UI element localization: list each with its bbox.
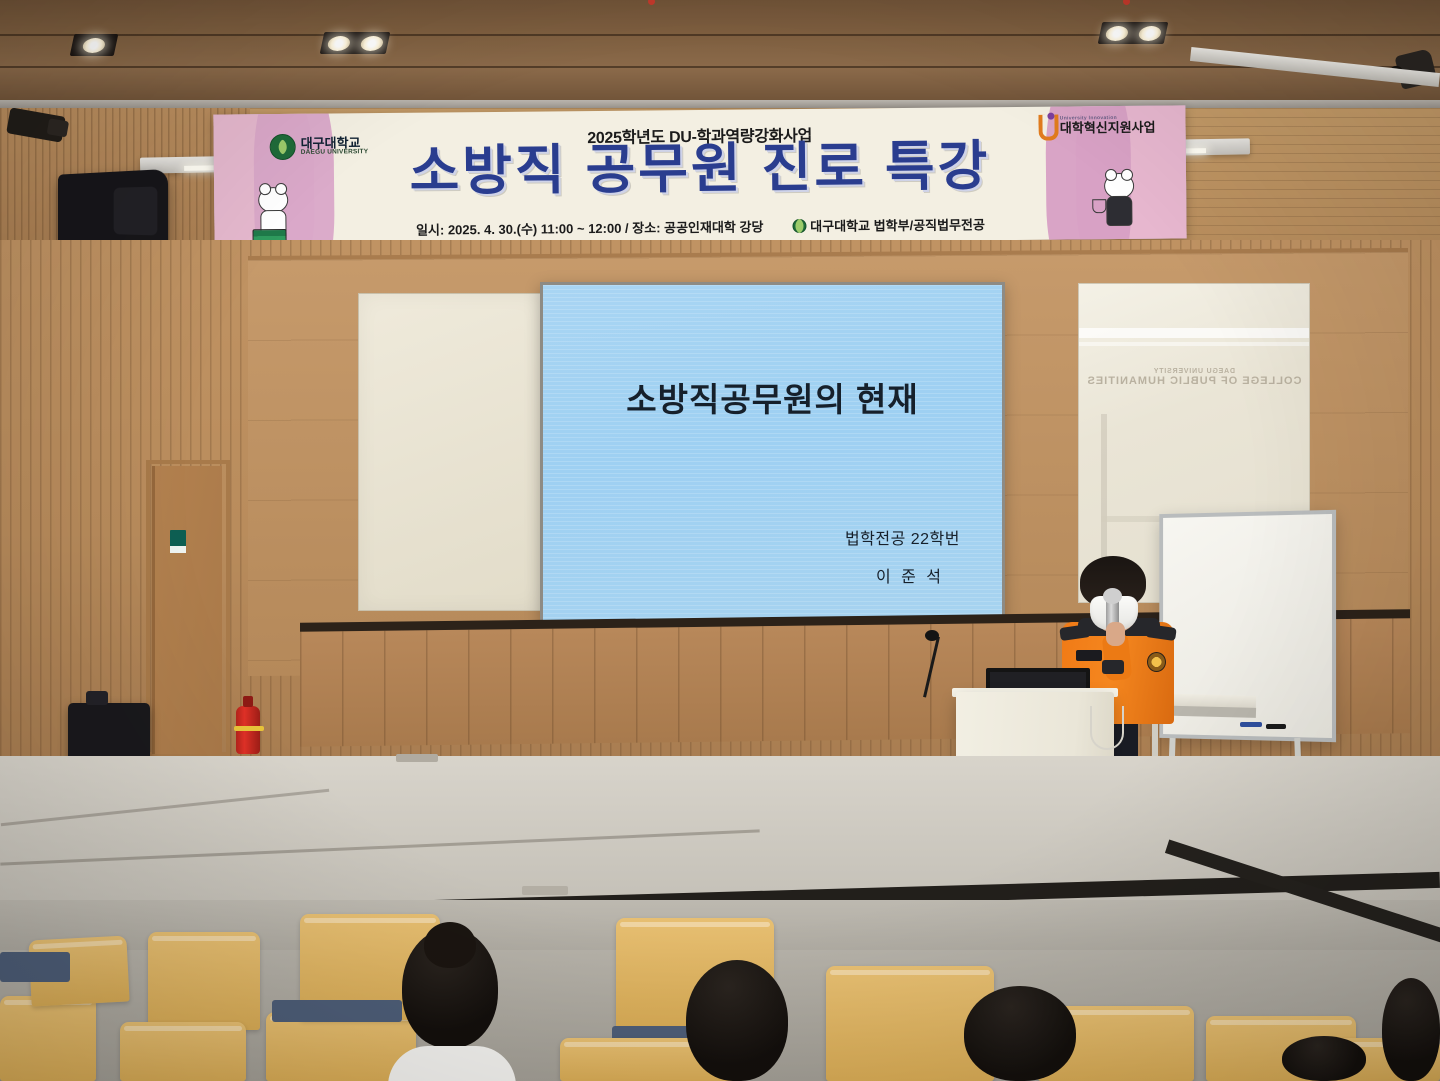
audience-person-head: [1282, 1036, 1366, 1081]
banner-footer: 일시: 2025. 4. 30.(수) 11:00 ~ 12:00 / 장소: …: [214, 212, 1186, 240]
slide-presenter-name: 이 준 석: [876, 563, 944, 587]
auditorium-seat[interactable]: [148, 932, 260, 1030]
presenter-cuff: [1102, 660, 1124, 674]
lecture-hall-photo: COLLEGE OF PUBLIC HUMANITIES 대구대학교 DAEGU…: [0, 0, 1440, 1081]
whiteboard-marker-icon: [1240, 722, 1262, 727]
exit-sign-icon: [170, 530, 186, 553]
ceiling-downlight: [1098, 22, 1169, 44]
department-emblem-icon: [793, 218, 807, 232]
ceiling-downlight: [320, 32, 391, 54]
acoustic-panel-left: [358, 293, 543, 611]
presenter-name-badge: [1076, 650, 1102, 661]
whiteboard-marker-icon: [1266, 724, 1286, 729]
side-door[interactable]: [152, 466, 222, 754]
floor-vent-icon: [522, 886, 568, 895]
fire-extinguisher-icon: [236, 706, 260, 754]
audience-person-shoulders: [388, 1046, 516, 1081]
auditorium-seat[interactable]: [120, 1022, 246, 1081]
banner-datetime-location: 일시: 2025. 4. 30.(수) 11:00 ~ 12:00 / 장소: …: [416, 216, 764, 238]
slide-title: 소방직공무원의 현재: [543, 373, 1002, 421]
microphone-head-icon: [1103, 588, 1122, 604]
event-banner: 대구대학교 DAEGU UNIVERSITY University Innova…: [213, 105, 1186, 247]
audience-person-head: [686, 960, 788, 1081]
panel-reflection-text: DAEGU UNIVERSITY COLLEGE OF PUBLIC HUMAN…: [1079, 368, 1309, 387]
presenter-hand: [1106, 622, 1125, 646]
panel-reflection-line2: COLLEGE OF PUBLIC HUMANITIES: [1087, 375, 1302, 387]
panel-reflection-line1: DAEGU UNIVERSITY: [1079, 368, 1309, 375]
floor-vent-icon: [396, 754, 438, 762]
banner-title: 소방직 공무원 진로 특강: [214, 137, 1186, 200]
fire-service-patch-icon: [1147, 652, 1166, 672]
cable-loop: [1090, 706, 1124, 750]
slide-presenter-major: 법학전공 22학번: [845, 525, 960, 549]
seat-cushion: [0, 952, 70, 982]
tiger-judge-mascot-icon: [1096, 173, 1143, 229]
projection-screen: 소방직공무원의 현재 법학전공 22학번 이 준 석: [540, 282, 1005, 624]
gooseneck-mic-head-icon: [925, 630, 939, 641]
auditorium-seat[interactable]: [0, 996, 96, 1081]
audience-person-bun: [424, 922, 476, 968]
audience-person-head: [964, 986, 1076, 1081]
projected-slide: 소방직공무원의 현재 법학전공 22학번 이 준 석: [543, 285, 1002, 621]
ceiling-downlight: [70, 34, 119, 56]
banner-department: 대구대학교 법학부/공직법무전공: [810, 214, 985, 235]
audience-person-head: [1382, 978, 1440, 1081]
seat-cushion: [272, 1000, 402, 1022]
tiger-mascot-icon: [250, 187, 297, 243]
